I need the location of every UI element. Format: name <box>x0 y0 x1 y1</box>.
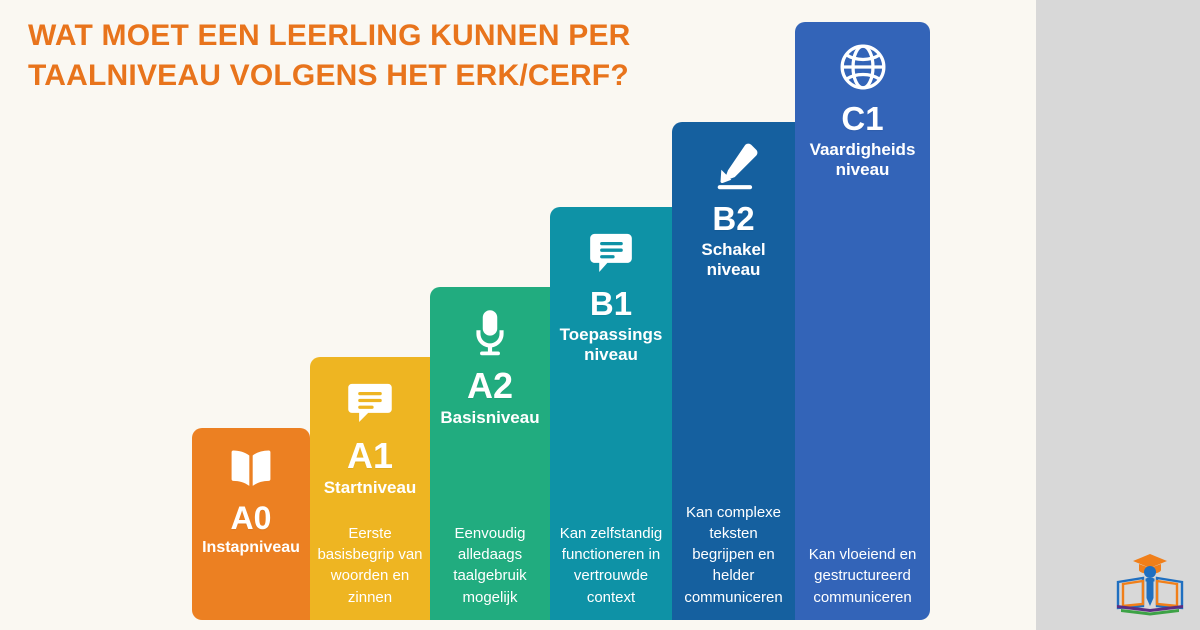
bar-a0-name: Instapniveau <box>198 539 304 558</box>
chat-bubble-icon <box>341 373 399 431</box>
cefr-level-bar-chart: A0 Instapniveau A1 Startniveau Eerste ba… <box>0 0 1036 630</box>
bar-b1-name: Toepassings niveau <box>550 325 672 365</box>
globe-icon <box>834 38 892 96</box>
bar-a1-name: Startniveau <box>320 478 421 498</box>
bar-b1[interactable]: B1 Toepassings niveau Kan zelfstandig fu… <box>550 207 672 620</box>
bar-c1-code: C1 <box>841 102 883 137</box>
bar-b2[interactable]: B2 Schakel niveau Kan complexe teksten b… <box>672 122 795 620</box>
bar-c1[interactable]: C1 Vaardigheids niveau Kan vloeiend en g… <box>795 22 930 620</box>
bar-b1-code: B1 <box>590 287 632 322</box>
bar-a0[interactable]: A0 Instapniveau <box>192 428 310 620</box>
bar-b2-code: B2 <box>712 202 754 237</box>
right-side-band <box>1036 0 1200 630</box>
bar-a1-code: A1 <box>347 437 393 475</box>
graduation-book-logo <box>1113 548 1187 616</box>
bar-a1[interactable]: A1 Startniveau Eerste basisbegrip van wo… <box>310 357 430 620</box>
bar-b2-description: Kan complexe teksten begrijpen en helder… <box>672 502 795 608</box>
microphone-icon <box>461 303 519 361</box>
bar-a2[interactable]: A2 Basisniveau Eenvoudig alledaags taalg… <box>430 287 550 620</box>
bar-a2-code: A2 <box>467 367 513 405</box>
bar-c1-description: Kan vloeiend en gestructureerd communice… <box>795 544 930 608</box>
open-book-icon <box>224 442 278 496</box>
bar-b1-description: Kan zelfstandig functioneren in vertrouw… <box>550 523 672 608</box>
bar-a0-code: A0 <box>231 502 272 536</box>
bar-c1-name: Vaardigheids niveau <box>795 140 930 180</box>
speech-bubble-icon <box>582 223 640 281</box>
marker-pen-icon <box>705 138 763 196</box>
bar-a2-description: Eenvoudig alledaags taalgebruik mogelijk <box>430 523 550 608</box>
infographic-canvas: WAT MOET EEN LEERLING KUNNEN PER TAALNIV… <box>0 0 1200 630</box>
bar-a1-description: Eerste basisbegrip van woorden en zinnen <box>310 523 430 608</box>
bar-a2-name: Basisniveau <box>436 408 543 428</box>
bar-b2-name: Schakel niveau <box>672 240 795 280</box>
